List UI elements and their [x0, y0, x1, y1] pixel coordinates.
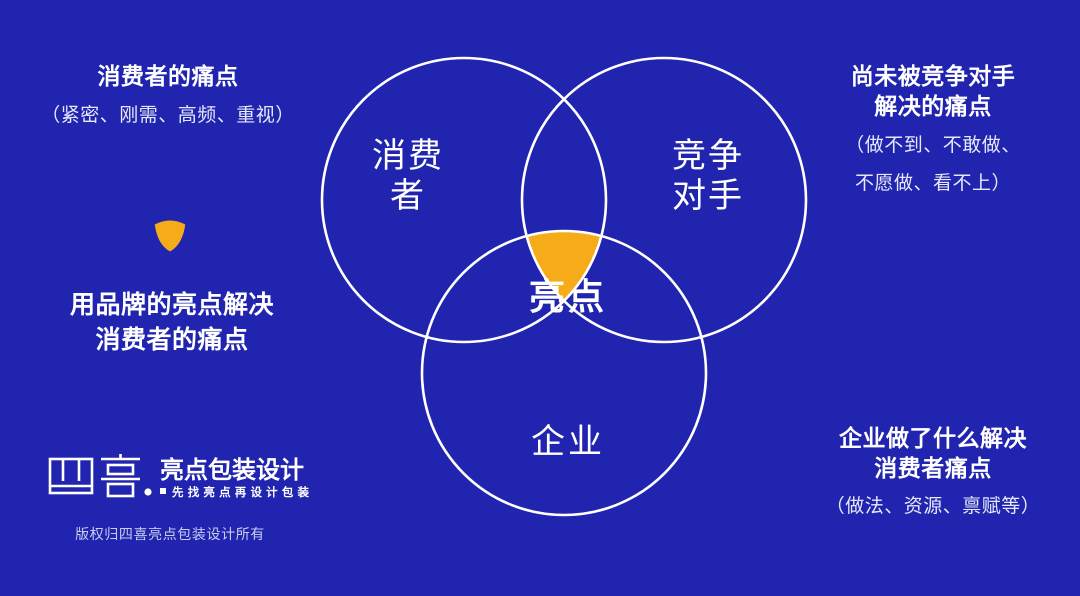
competitor-painpoint-detail-line2: 不愿做、看不上） — [792, 171, 1074, 198]
key-statement-line2: 消费者的痛点 — [8, 323, 336, 358]
venn-diagram: 消费 者 竞争 对手 企业 亮点 — [310, 40, 820, 560]
highlight-triangle-icon — [153, 220, 187, 252]
consumer-painpoint-detail: （紧密、刚需、高频、重视） — [8, 103, 328, 130]
logo-subtagline: 先 找 亮 点 再 设 计 包 装 — [172, 485, 310, 499]
venn-label-company: 企业 — [498, 422, 638, 462]
venn-label-consumer: 消费 者 — [348, 136, 468, 216]
company-solution-detail: （做法、资源、禀赋等） — [788, 494, 1078, 521]
copyright-notice: 版权归四喜亮点包装设计所有 — [20, 524, 320, 544]
logo-subtagline-bullet — [160, 488, 166, 494]
competitor-painpoint-callout: 尚未被竞争对手 解决的痛点 （做不到、不敢做、 不愿做、看不上） — [792, 62, 1074, 198]
brand-logo: 亮点包装设计 先 找 亮 点 再 设 计 包 装 — [48, 452, 318, 506]
company-solution-callout: 企业做了什么解决 消费者痛点 （做法、资源、禀赋等） — [788, 424, 1078, 521]
consumer-painpoint-heading: 消费者的痛点 — [8, 62, 328, 92]
logo-glyph-si — [50, 459, 92, 493]
company-solution-heading-line2: 消费者痛点 — [788, 454, 1078, 484]
competitor-painpoint-heading-line2: 解决的痛点 — [792, 92, 1074, 122]
logo-dot — [144, 488, 151, 495]
competitor-painpoint-detail-line1: （做不到、不敢做、 — [792, 133, 1074, 160]
slide-canvas: 消费者的痛点 （紧密、刚需、高频、重视） 尚未被竞争对手 解决的痛点 （做不到、… — [0, 0, 1080, 596]
consumer-painpoint-callout: 消费者的痛点 （紧密、刚需、高频、重视） — [8, 62, 328, 130]
venn-label-competitor: 竞争 对手 — [648, 136, 768, 216]
key-statement-line1: 用品牌的亮点解决 — [8, 288, 336, 323]
venn-label-highlight: 亮点 — [498, 268, 638, 320]
company-solution-heading-line1: 企业做了什么解决 — [788, 424, 1078, 454]
key-statement: 用品牌的亮点解决 消费者的痛点 — [8, 288, 336, 357]
logo-tagline: 亮点包装设计 — [160, 456, 304, 484]
competitor-painpoint-heading-line1: 尚未被竞争对手 — [792, 62, 1074, 92]
logo-glyph-xi — [101, 454, 140, 496]
